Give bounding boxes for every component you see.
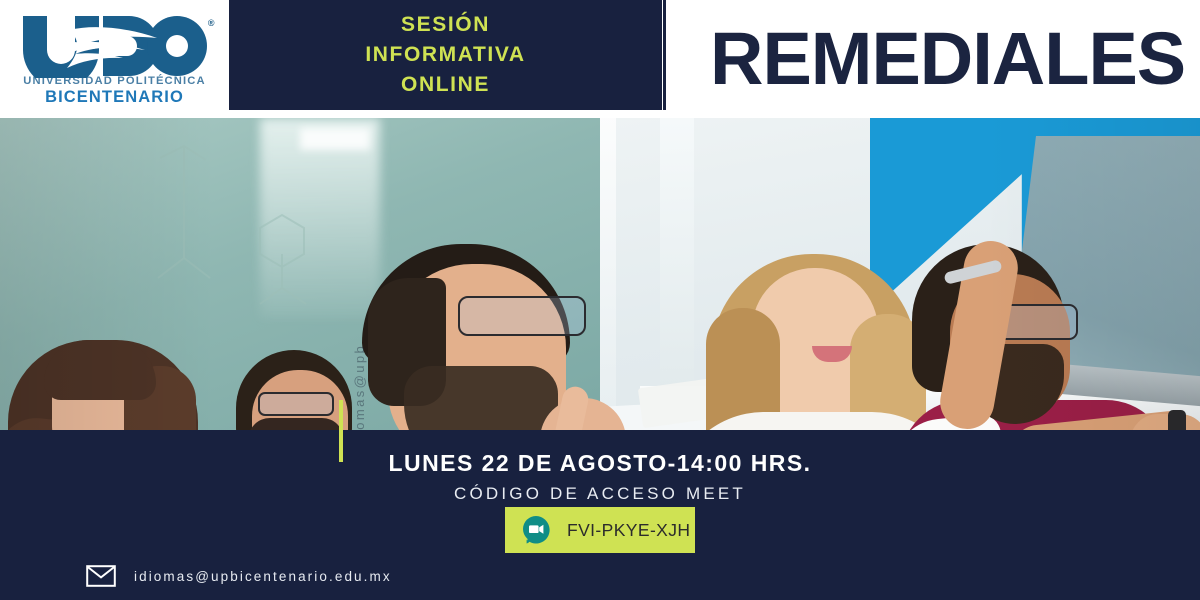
meet-code-chip[interactable]: FVI-PKYE-XJH <box>505 507 695 553</box>
title-area: REMEDIALES <box>666 0 1200 118</box>
session-line-1: SESIÓN <box>401 11 490 39</box>
green-accent-bar <box>339 400 343 462</box>
access-code-label: CÓDIGO DE ACCESO MEET <box>0 484 1200 504</box>
page-title: REMEDIALES <box>710 22 1185 96</box>
hero-photo: idiomas@upb <box>0 118 1200 430</box>
registered-mark: ® <box>208 18 215 28</box>
google-meet-icon <box>521 515 551 545</box>
session-badge: SESIÓN INFORMATIVA ONLINE <box>229 0 662 110</box>
photo-vignette <box>0 118 1200 430</box>
university-logo[interactable]: ® UNIVERSIDAD POLITÉCNICA BICENTENARIO <box>0 0 229 118</box>
event-date-time: LUNES 22 DE AGOSTO-14:00 HRS. <box>0 450 1200 477</box>
header-bar: ® UNIVERSIDAD POLITÉCNICA BICENTENARIO S… <box>0 0 1200 118</box>
logo-line-bicentenario: BICENTENARIO <box>45 88 184 107</box>
footer-email[interactable]: idiomas@upbicentenario.edu.mx <box>86 565 392 587</box>
photo-watermark: idiomas@upb <box>352 344 367 430</box>
session-line-2: INFORMATIVA <box>365 41 525 69</box>
upb-eagle-logo-icon: ® <box>17 12 213 78</box>
email-address: idiomas@upbicentenario.edu.mx <box>134 569 392 584</box>
envelope-icon <box>86 565 116 587</box>
session-line-3: ONLINE <box>401 71 490 99</box>
meet-code-text: FVI-PKYE-XJH <box>567 520 690 541</box>
